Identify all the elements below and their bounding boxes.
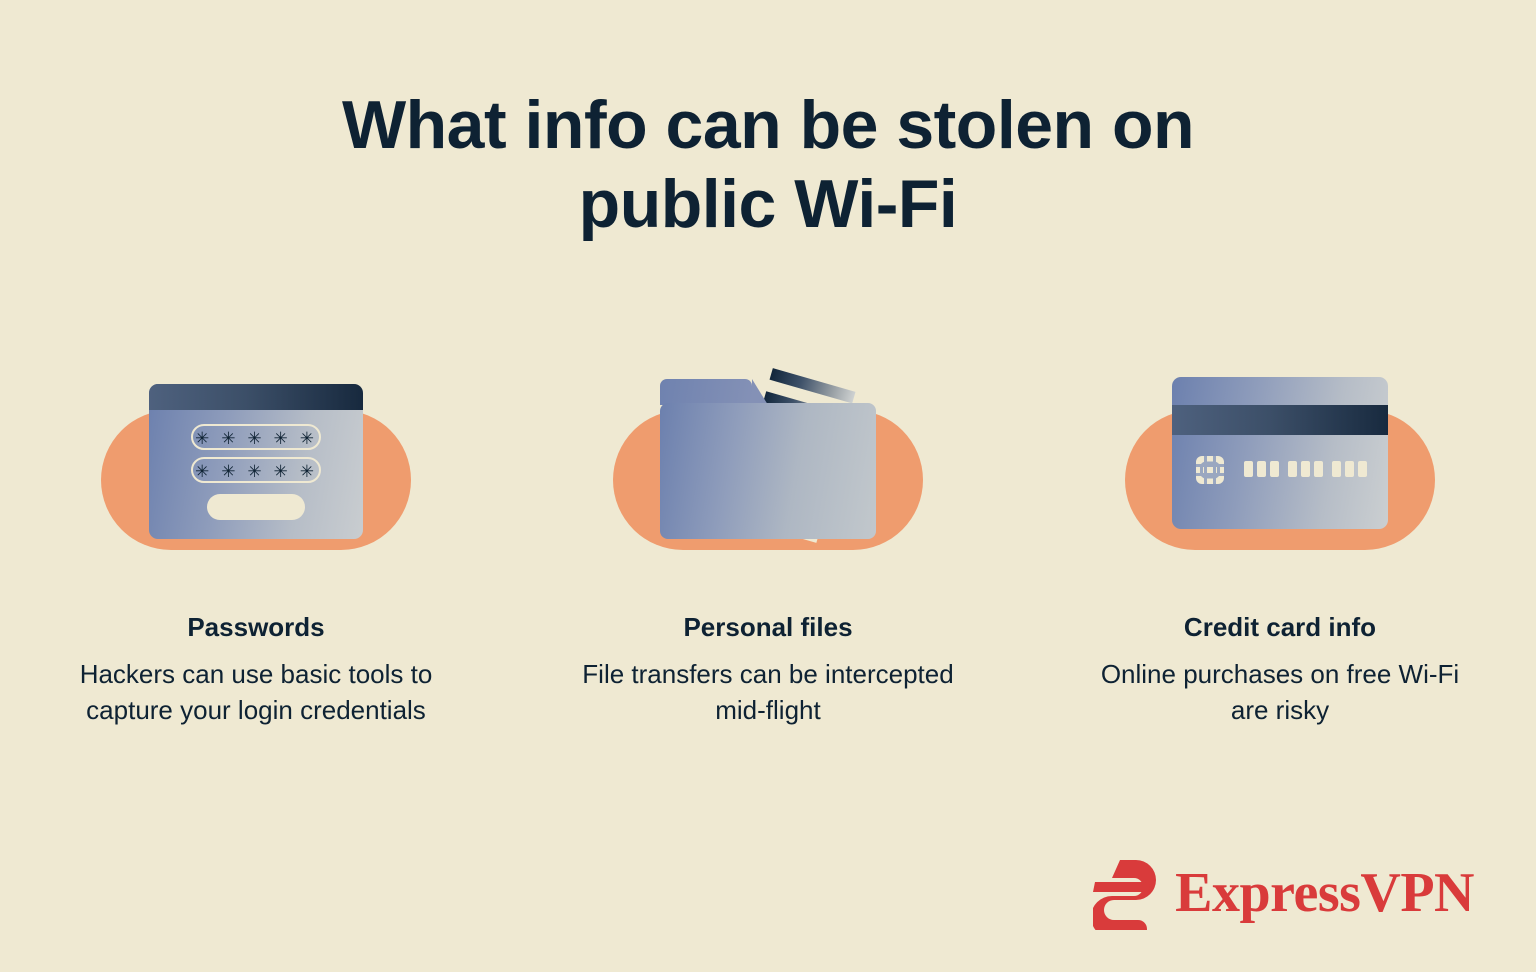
credit-card-icon (1172, 377, 1388, 529)
expressvpn-wordmark: ExpressVPN (1175, 865, 1474, 921)
info-column-credit-card: Credit card info Online purchases on fre… (1024, 332, 1536, 728)
password-mask-1: ✳ ✳ ✳ ✳ ✳ (195, 431, 317, 448)
card-number-blocks (1244, 461, 1367, 477)
credit-card-illustration (1110, 332, 1450, 582)
card-number-group (1288, 461, 1323, 477)
card-title-bar (149, 384, 363, 410)
card-number-group (1244, 461, 1279, 477)
password-field-1: ✳ ✳ ✳ ✳ ✳ (191, 424, 321, 450)
info-column-passwords: ✳ ✳ ✳ ✳ ✳ ✳ ✳ ✳ ✳ ✳ Passwords Hackers ca… (0, 332, 512, 728)
personal-files-illustration (598, 332, 938, 582)
column-description-credit-card: Online purchases on free Wi-Fi are risky (1080, 657, 1480, 728)
password-mask-2: ✳ ✳ ✳ ✳ ✳ (195, 464, 317, 481)
info-column-personal-files: Personal files File transfers can be int… (512, 332, 1024, 728)
password-field-2: ✳ ✳ ✳ ✳ ✳ (191, 457, 321, 483)
column-heading-passwords: Passwords (187, 612, 324, 643)
folder-documents-icon (660, 379, 876, 539)
magnetic-stripe (1172, 405, 1388, 435)
column-heading-personal-files: Personal files (683, 612, 852, 643)
login-button-shape (207, 494, 305, 520)
column-description-passwords: Hackers can use basic tools to capture y… (56, 657, 456, 728)
card-number-group (1332, 461, 1367, 477)
column-heading-credit-card: Credit card info (1184, 612, 1376, 643)
password-login-card-icon: ✳ ✳ ✳ ✳ ✳ ✳ ✳ ✳ ✳ ✳ (149, 384, 363, 539)
passwords-illustration: ✳ ✳ ✳ ✳ ✳ ✳ ✳ ✳ ✳ ✳ (86, 332, 426, 582)
card-chip-icon (1196, 456, 1224, 484)
info-columns: ✳ ✳ ✳ ✳ ✳ ✳ ✳ ✳ ✳ ✳ Passwords Hackers ca… (0, 332, 1536, 728)
folder-body (660, 403, 876, 539)
page-title: What info can be stolen on public Wi-Fi (268, 86, 1268, 244)
title-section: What info can be stolen on public Wi-Fi (0, 0, 1536, 244)
column-description-personal-files: File transfers can be intercepted mid-fl… (568, 657, 968, 728)
expressvpn-e-mark-icon (1093, 856, 1157, 930)
folder-tab (660, 379, 752, 405)
expressvpn-logo: ExpressVPN (1093, 856, 1474, 930)
